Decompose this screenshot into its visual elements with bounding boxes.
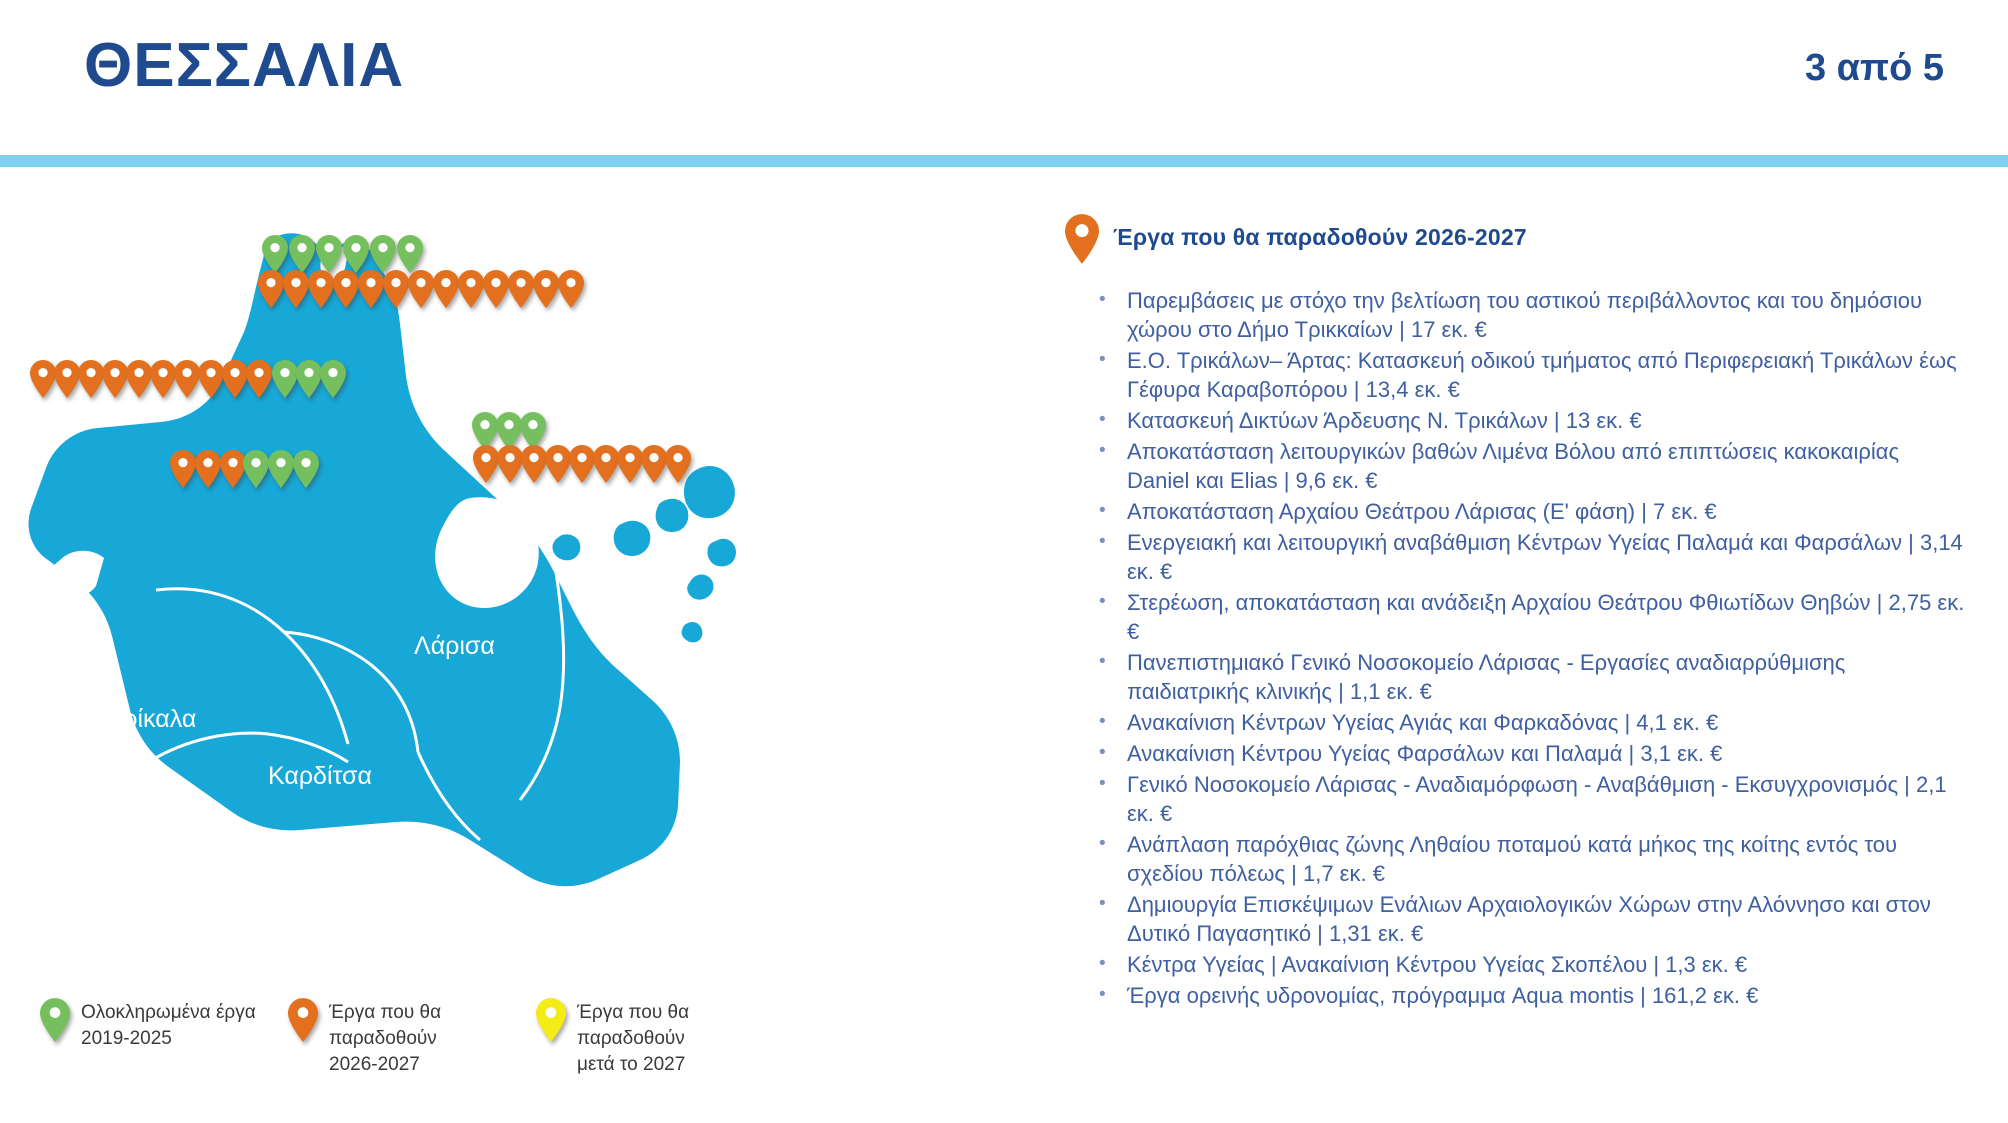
map-pin-orange	[665, 445, 691, 483]
project-item: Στερέωση, αποκατάσταση και ανάδειξη Αρχα…	[1127, 588, 1965, 646]
map-pin-orange	[283, 270, 309, 308]
project-item: Έργα ορεινής υδρονομίας, πρόγραμμα Aqua …	[1127, 981, 1965, 1010]
map-pin-green	[370, 235, 396, 273]
map-pin-orange	[383, 270, 409, 308]
map-pin-orange	[593, 445, 619, 483]
projects-panel-title: Έργα που θα παραδοθούν 2026-2027	[1113, 222, 1527, 251]
header-divider	[0, 155, 2008, 167]
map-pin-green	[316, 235, 342, 273]
map-pin-orange	[473, 445, 499, 483]
map-pin-orange	[333, 270, 359, 308]
page-title: ΘΕΣΣΑΛΙΑ	[84, 35, 404, 97]
project-item: Ανακαίνιση Κέντρου Υγείας Φαρσάλων και Π…	[1127, 739, 1965, 768]
projects-panel: Έργα που θα παραδοθούν 2026-2027 Παρεμβά…	[1065, 222, 1965, 1012]
map-pin-orange	[433, 270, 459, 308]
map-pin-green	[289, 235, 315, 273]
slide: ΘΕΣΣΑΛΙΑ 3 από 5	[0, 0, 2008, 1123]
map-pin-orange	[246, 360, 272, 398]
map-pin-green	[272, 360, 298, 398]
map-pin-green	[397, 235, 423, 273]
map-pin-orange	[170, 450, 196, 488]
map-pin-orange	[358, 270, 384, 308]
project-item: Αποκατάσταση Αρχαίου Θεάτρου Λάρισας (Ε'…	[1127, 497, 1965, 526]
map-pin-orange	[408, 270, 434, 308]
project-item: Δημιουργία Επισκέψιμων Ενάλιων Αρχαιολογ…	[1127, 890, 1965, 948]
map-pin-orange	[521, 445, 547, 483]
map-legend: Ολοκληρωμένα έργα 2019-2025Έργα που θα π…	[40, 1000, 796, 1078]
slide-header: ΘΕΣΣΑΛΙΑ 3 από 5	[0, 0, 2008, 160]
map-pin-orange	[533, 270, 559, 308]
map-pin-orange	[78, 360, 104, 398]
map-pin-orange	[497, 445, 523, 483]
map-pin-orange	[308, 270, 334, 308]
page-indicator: 3 από 5	[1805, 47, 1944, 90]
map-pin-green	[293, 450, 319, 488]
legend-item: Ολοκληρωμένα έργα 2019-2025	[40, 1000, 288, 1078]
project-item: Αποκατάσταση λειτουργικών βαθών Λιμένα Β…	[1127, 437, 1965, 495]
map-pin-orange	[258, 270, 284, 308]
projects-list: Παρεμβάσεις με στόχο την βελτίωση του ασ…	[1065, 286, 1965, 1010]
map-pin-orange	[126, 360, 152, 398]
project-item: Παρεμβάσεις με στόχο την βελτίωση του ασ…	[1127, 286, 1965, 344]
map-pin-orange	[54, 360, 80, 398]
thessaly-map: Λάρισα Τρίκαλα Καρδίτσα Μαγνησία	[0, 200, 1060, 980]
map-pin-orange	[102, 360, 128, 398]
project-item: Ε.Ο. Τρικάλων– Άρτας: Κατασκευή οδικού τ…	[1127, 346, 1965, 404]
legend-item-label: Ολοκληρωμένα έργα 2019-2025	[81, 1000, 256, 1052]
map-pin-green	[343, 235, 369, 273]
map-pin-orange	[150, 360, 176, 398]
map-pin-orange	[641, 445, 667, 483]
map-pin-yellow-icon	[536, 998, 566, 1042]
project-item: Πανεπιστημιακό Γενικό Νοσοκομείο Λάρισας…	[1127, 648, 1965, 706]
map-pin-orange-icon	[1065, 214, 1099, 264]
map-pin-orange	[569, 445, 595, 483]
project-item: Ανακαίνιση Κέντρων Υγείας Αγιάς και Φαρκ…	[1127, 708, 1965, 737]
legend-item-label: Έργα που θα παραδοθούν μετά το 2027	[577, 1000, 796, 1078]
map-pin-green-icon	[40, 998, 70, 1042]
map-pin-orange	[458, 270, 484, 308]
project-item: Ανάπλαση παρόχθιας ζώνης Ληθαίου ποταμού…	[1127, 830, 1965, 888]
legend-item: Έργα που θα παραδοθούν μετά το 2027	[536, 1000, 796, 1078]
map-pin-orange	[195, 450, 221, 488]
map-pin-green	[268, 450, 294, 488]
map-pin-green	[243, 450, 269, 488]
projects-panel-header: Έργα που θα παραδοθούν 2026-2027	[1065, 222, 1965, 264]
legend-item-label: Έργα που θα παραδοθούν 2026-2027	[329, 1000, 536, 1078]
map-pin-orange	[558, 270, 584, 308]
map-pin-orange	[30, 360, 56, 398]
project-item: Κέντρα Υγείας | Ανακαίνιση Κέντρου Υγεία…	[1127, 950, 1965, 979]
map-pin-orange	[174, 360, 200, 398]
map-pin-orange	[545, 445, 571, 483]
map-pin-layer	[0, 200, 1060, 980]
map-pin-green	[296, 360, 322, 398]
map-pin-orange	[198, 360, 224, 398]
project-item: Κατασκευή Δικτύων Άρδευσης Ν. Τρικάλων |…	[1127, 406, 1965, 435]
project-item: Γενικό Νοσοκομείο Λάρισας - Αναδιαμόρφωσ…	[1127, 770, 1965, 828]
map-pin-orange	[508, 270, 534, 308]
map-pin-orange	[617, 445, 643, 483]
legend-item: Έργα που θα παραδοθούν 2026-2027	[288, 1000, 536, 1078]
project-item: Ενεργειακή και λειτουργική αναβάθμιση Κέ…	[1127, 528, 1965, 586]
map-pin-orange-icon	[288, 998, 318, 1042]
map-pin-green	[262, 235, 288, 273]
map-pin-green	[320, 360, 346, 398]
map-pin-orange	[222, 360, 248, 398]
map-pin-orange	[483, 270, 509, 308]
